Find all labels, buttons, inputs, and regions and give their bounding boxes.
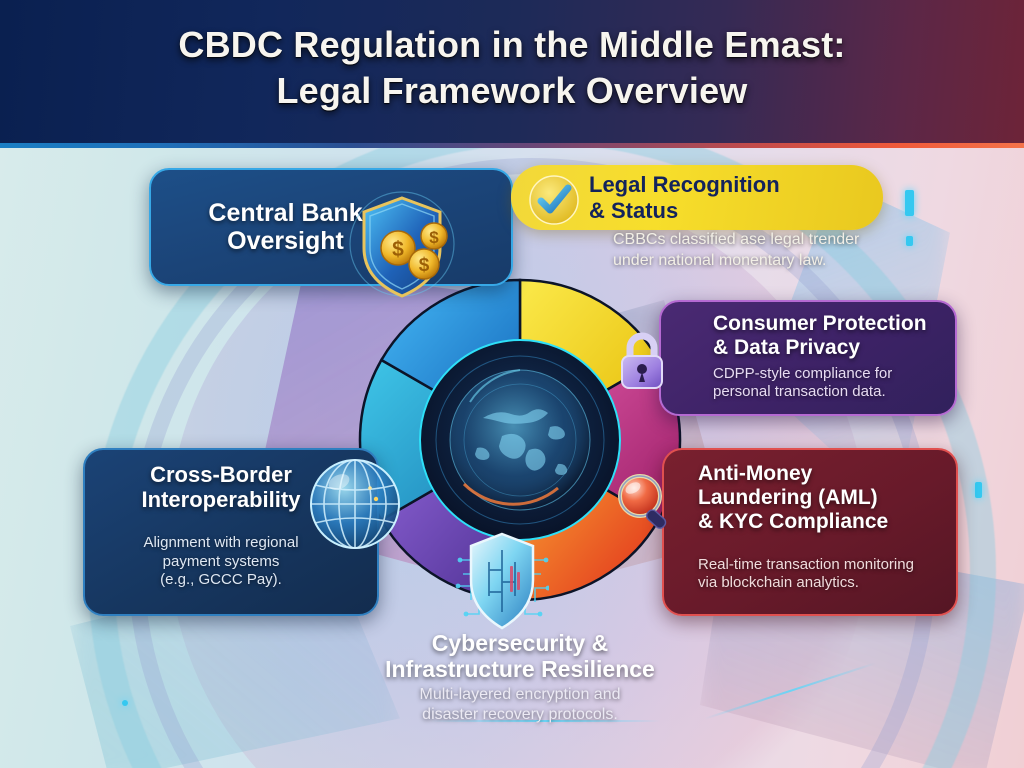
card-desc-aml-kyc: Real-time transaction monitoring via blo… <box>698 556 942 593</box>
card-title-consumer-protection: Consumer Protection & Data Privacy <box>713 312 943 360</box>
shield-coins-icon: $ $ $ <box>340 186 468 314</box>
infographic-canvas: $ $ $ <box>0 0 1024 768</box>
card-aml-kyc[interactable]: Anti-Money Laundering (AML) & KYC Compli… <box>662 448 958 616</box>
card-title-legal-recognition: Legal Recognition & Status <box>589 172 780 222</box>
card-desc-consumer-protection: CDPP-style compliance for personal trans… <box>713 365 943 402</box>
page-title: CBDC Regulation in the Middle Emast: Leg… <box>0 22 1024 114</box>
hairline-accent-2 <box>704 662 876 720</box>
card-desc-legal-recognition: CBBCs classified ase legal trender under… <box>613 230 943 272</box>
card-desc-cybersecurity: Multi-layered encryption and disaster re… <box>334 685 706 725</box>
spark-dot-1 <box>905 190 914 216</box>
magnifier-icon <box>612 470 678 536</box>
globe-wireframe-icon <box>306 455 404 553</box>
svg-text:$: $ <box>429 228 439 247</box>
card-title-aml-kyc: Anti-Money Laundering (AML) & KYC Compli… <box>698 462 942 534</box>
circuit-shield-icon <box>455 530 549 634</box>
card-consumer-protection[interactable]: Consumer Protection & Data Privacy CDPP-… <box>659 300 957 416</box>
check-circle-icon <box>528 174 580 226</box>
card-cybersecurity[interactable]: Cybersecurity & Infrastructure Resilienc… <box>334 630 706 738</box>
header-band: CBDC Regulation in the Middle Emast: Leg… <box>0 0 1024 148</box>
card-title-cybersecurity: Cybersecurity & Infrastructure Resilienc… <box>334 630 706 682</box>
spark-dot-3 <box>975 482 982 498</box>
svg-text:$: $ <box>419 255 430 276</box>
spark-dot-4 <box>122 700 128 706</box>
lock-icon <box>616 330 668 392</box>
svg-text:$: $ <box>392 238 404 261</box>
